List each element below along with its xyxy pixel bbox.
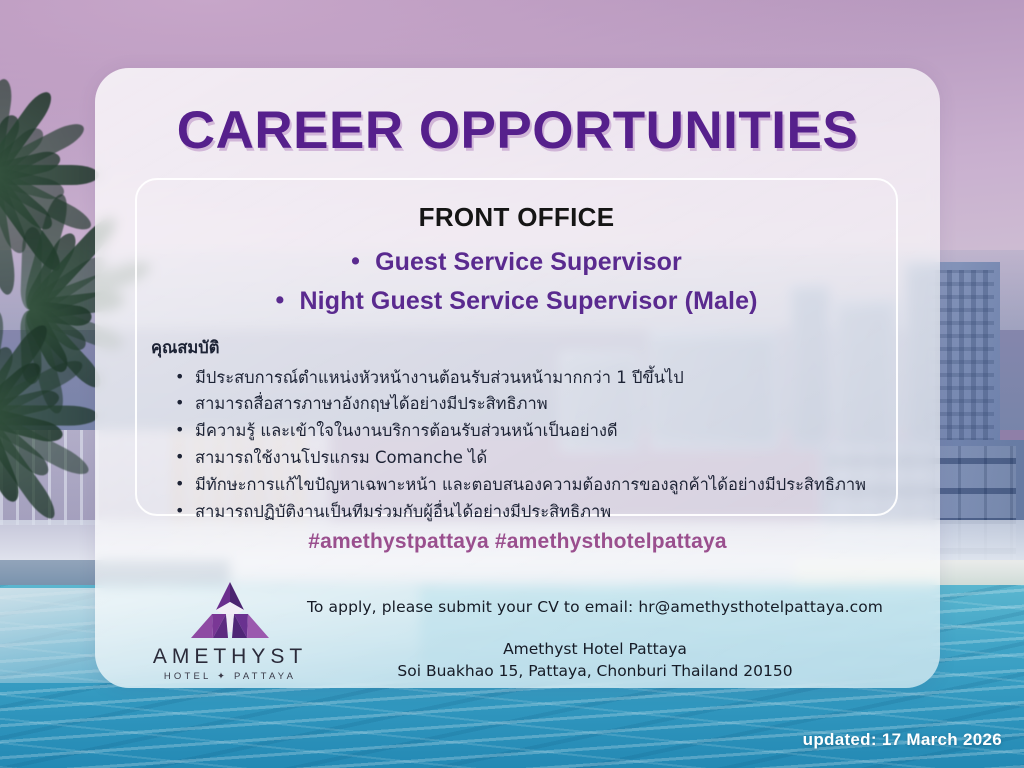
hotel-address: Soi Buakhao 15, Pattaya, Chonburi Thaila… [275, 662, 915, 680]
qualifications-heading: คุณสมบัติ [151, 335, 896, 361]
footer: AMETHYST HOTEL ✦ PATTAYA To apply, pleas… [95, 580, 940, 688]
list-item: Guest Service Supervisor [137, 243, 896, 282]
positions-panel: FRONT OFFICE Guest Service Supervisor Ni… [135, 178, 898, 516]
list-item: Night Guest Service Supervisor (Male) [137, 282, 896, 321]
list-item: สามารถปฏิบัติงานเป็นทีมร่วมกับผู้อื่นได้… [173, 499, 896, 526]
contact-block: To apply, please submit your CV to email… [275, 598, 915, 680]
list-item: มีความรู้ และเข้าใจในงานบริการต้อนรับส่ว… [173, 418, 896, 445]
updated-stamp: updated: 17 March 2026 [803, 730, 1002, 750]
list-item: มีประสบการณ์ตำแหน่งหัวหน้างานต้อนรับส่วน… [173, 365, 896, 392]
hashtags: #amethystpattaya #amethysthotelpattaya [95, 530, 940, 554]
page-title: CAREER OPPORTUNITIES [95, 100, 940, 161]
content-card: CAREER OPPORTUNITIES FRONT OFFICE Guest … [95, 68, 940, 688]
job-title: Guest Service Supervisor [351, 243, 682, 282]
job-title: Night Guest Service Supervisor (Male) [276, 282, 758, 321]
hotel-name: Amethyst Hotel Pattaya [275, 640, 915, 658]
list-item: สามารถสื่อสารภาษาอังกฤษได้อย่างมีประสิทธ… [173, 391, 896, 418]
list-item: สามารถใช้งานโปรแกรม Comanche ได้ [173, 445, 896, 472]
department-title: FRONT OFFICE [137, 202, 896, 233]
qualifications-list: มีประสบการณ์ตำแหน่งหัวหน้างานต้อนรับส่วน… [173, 365, 896, 526]
list-item: มีทักษะการแก้ไขปัญหาเฉพาะหน้า และตอบสนอง… [173, 472, 896, 499]
apply-instruction[interactable]: To apply, please submit your CV to email… [275, 598, 915, 616]
amethyst-gem-triangle-icon [187, 580, 273, 642]
job-list: Guest Service Supervisor Night Guest Ser… [137, 243, 896, 321]
career-opportunities-poster: CAREER OPPORTUNITIES FRONT OFFICE Guest … [0, 0, 1024, 768]
